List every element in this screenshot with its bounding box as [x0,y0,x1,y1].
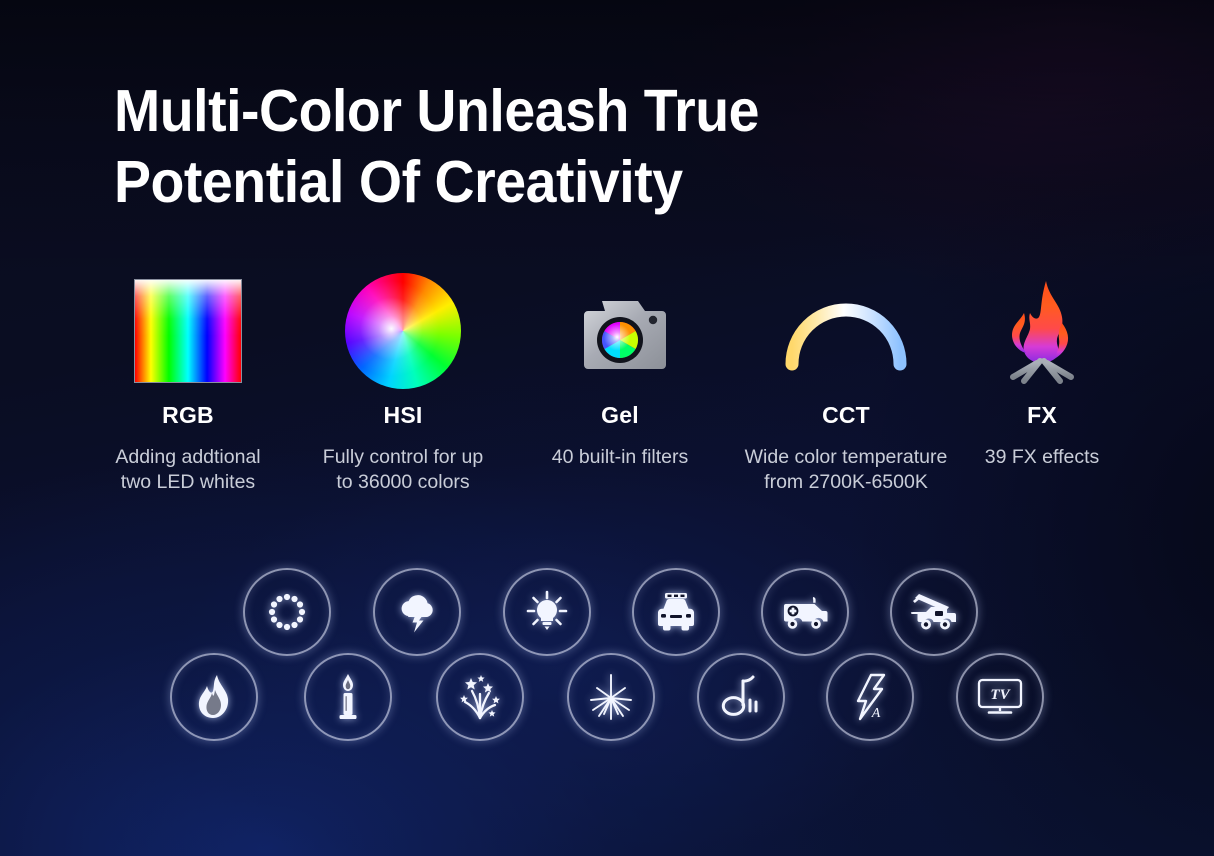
campfire-flame-icon [1000,275,1084,387]
promo-banner: Multi-Color Unleash True Potential Of Cr… [0,0,1214,856]
light-bulb-icon [525,590,569,634]
feature-hsi-desc: Fully control for up to 36000 colors [313,445,493,495]
spark-burst-icon [589,674,633,720]
flame-icon [195,674,233,720]
page-title: Multi-Color Unleash True Potential Of Cr… [114,76,960,218]
candle-icon [333,673,363,721]
rgb-gradient-swatch-icon [134,279,242,383]
feature-gel: Gel 40 built-in filters [530,272,710,470]
music-note-icon [718,675,764,719]
cloud-lightning-icon [395,590,439,634]
lightning-bolt-a-icon: A [850,673,890,721]
feature-fx-art [952,272,1132,390]
effect-icon-welding[interactable] [567,653,655,741]
feature-cct: CCT Wide color temperature from 2700K-65… [735,272,957,495]
effect-icon-party[interactable] [243,568,331,656]
effect-icon-bulb[interactable] [503,568,591,656]
effect-icon-fire[interactable] [170,653,258,741]
fire-truck-icon [909,590,959,634]
camera-gel-icon [572,289,668,373]
television-icon: TV [976,677,1024,717]
effect-icon-fireworks[interactable] [436,653,524,741]
color-temperature-arc-icon [778,290,914,372]
feature-fx-title: FX [952,402,1132,429]
svg-text:A: A [871,706,881,721]
feature-cct-art [735,272,957,390]
effect-icon-police-car[interactable] [632,568,720,656]
feature-rgb: RGB Adding addtional two LED whites [114,272,262,495]
feature-rgb-desc: Adding addtional two LED whites [114,445,262,495]
ambulance-icon [781,591,829,633]
effect-icon-storm[interactable] [373,568,461,656]
police-car-icon [652,590,700,634]
dot-ring-icon [267,592,307,632]
hsi-color-wheel-icon [345,273,461,389]
effect-icon-music[interactable] [697,653,785,741]
effect-icon-candle[interactable] [304,653,392,741]
feature-hsi-title: HSI [313,402,493,429]
feature-gel-title: Gel [530,402,710,429]
feature-fx: FX 39 FX effects [952,272,1132,470]
effect-icon-tv[interactable]: TV [956,653,1044,741]
feature-fx-desc: 39 FX effects [952,445,1132,470]
feature-hsi-art [313,272,493,390]
feature-gel-art [530,272,710,390]
effect-icon-grid: A TV [0,555,1214,755]
effect-icon-lightning-a[interactable]: A [826,653,914,741]
feature-rgb-art [114,272,262,390]
feature-rgb-title: RGB [114,402,262,429]
feature-hsi: HSI Fully control for up to 36000 colors [313,272,493,495]
feature-gel-desc: 40 built-in filters [530,445,710,470]
tv-glyph: TV [990,687,1011,703]
fireworks-icon [457,674,503,720]
feature-cct-desc: Wide color temperature from 2700K-6500K [735,445,957,495]
feature-cct-title: CCT [735,402,957,429]
effect-icon-fire-truck[interactable] [890,568,978,656]
effect-icon-ambulance[interactable] [761,568,849,656]
feature-list: RGB Adding addtional two LED whites HSI … [0,272,1214,502]
